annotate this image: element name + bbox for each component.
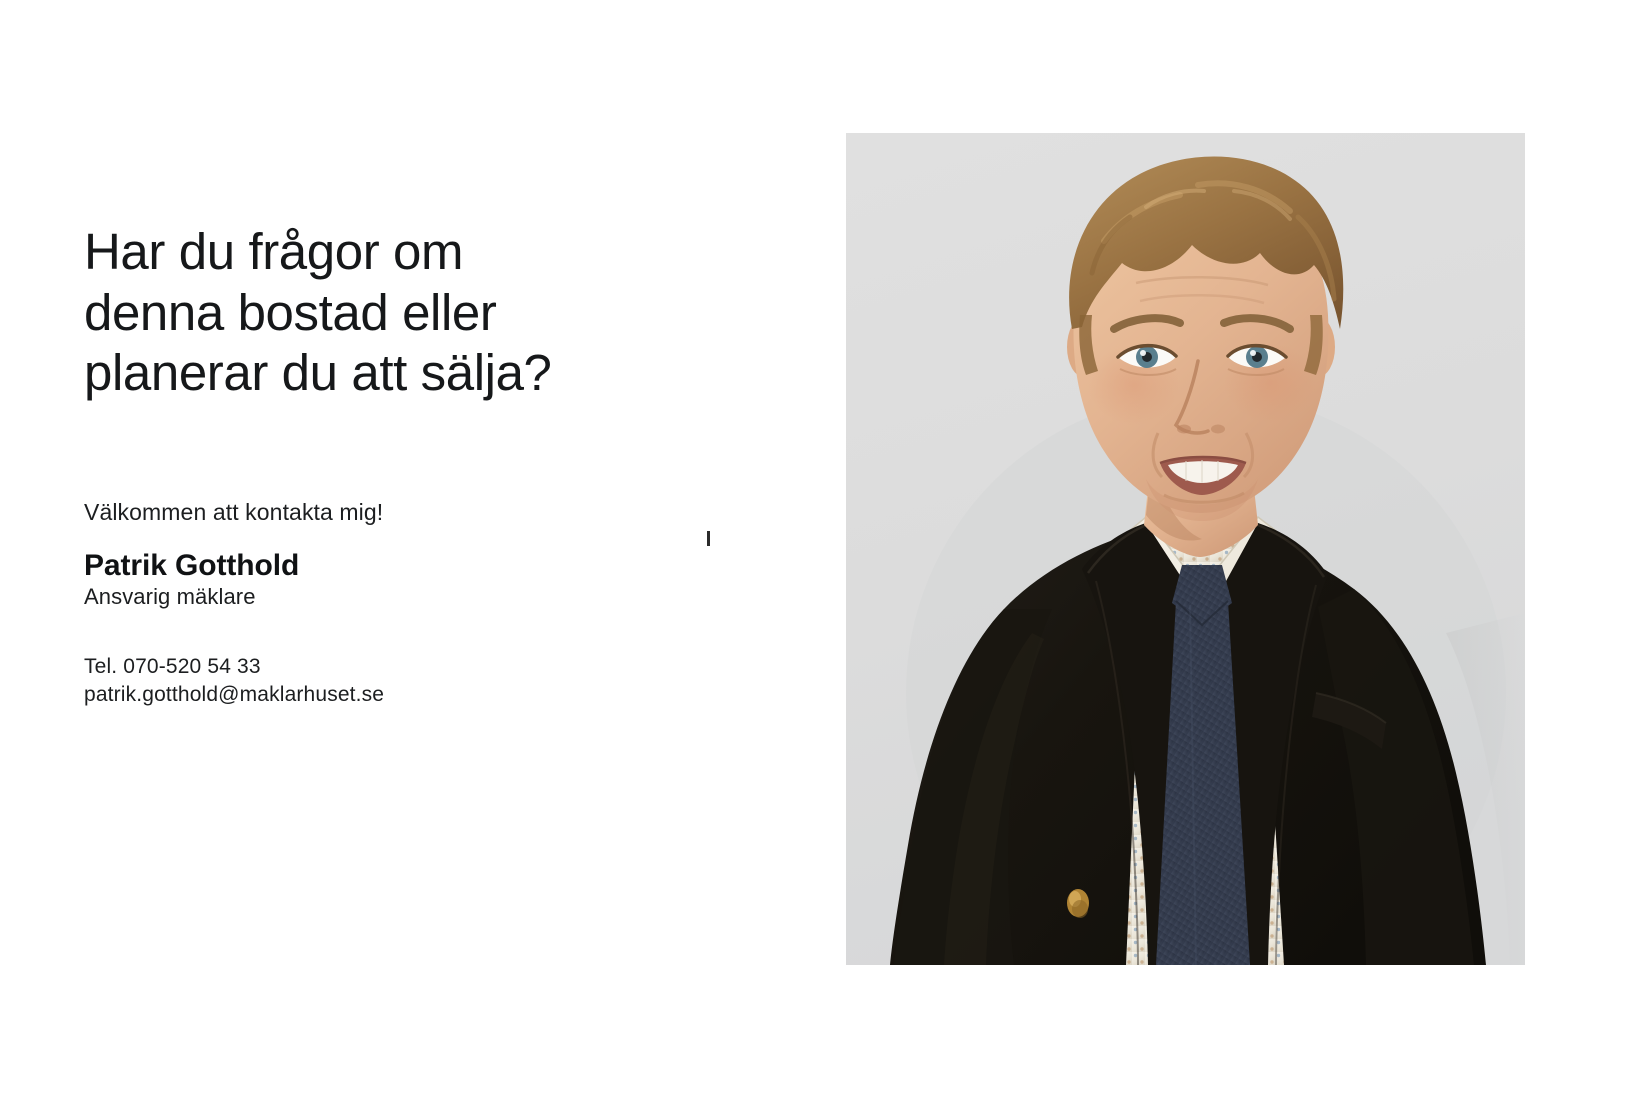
email-address[interactable]: patrik.gotthold@maklarhuset.se — [84, 681, 704, 709]
agent-portrait — [846, 133, 1525, 965]
contact-details: Tel. 070-520 54 33 patrik.gotthold@makla… — [84, 653, 704, 709]
contact-text-column: Har du frågor om denna bostad eller plan… — [84, 222, 704, 709]
agent-portrait-illustration — [846, 133, 1525, 965]
agent-role: Ansvarig mäklare — [84, 584, 704, 609]
welcome-message: Välkommen att kontakta mig! — [84, 498, 704, 528]
phone-number[interactable]: Tel. 070-520 54 33 — [84, 653, 704, 681]
text-caret-artifact — [707, 531, 710, 546]
agent-contact-block: Välkommen att kontakta mig! Patrik Gotth… — [84, 498, 704, 709]
page-title: Har du frågor om denna bostad eller plan… — [84, 222, 554, 404]
contact-page: Har du frågor om denna bostad eller plan… — [0, 0, 1650, 1100]
agent-name: Patrik Gotthold — [84, 550, 704, 582]
